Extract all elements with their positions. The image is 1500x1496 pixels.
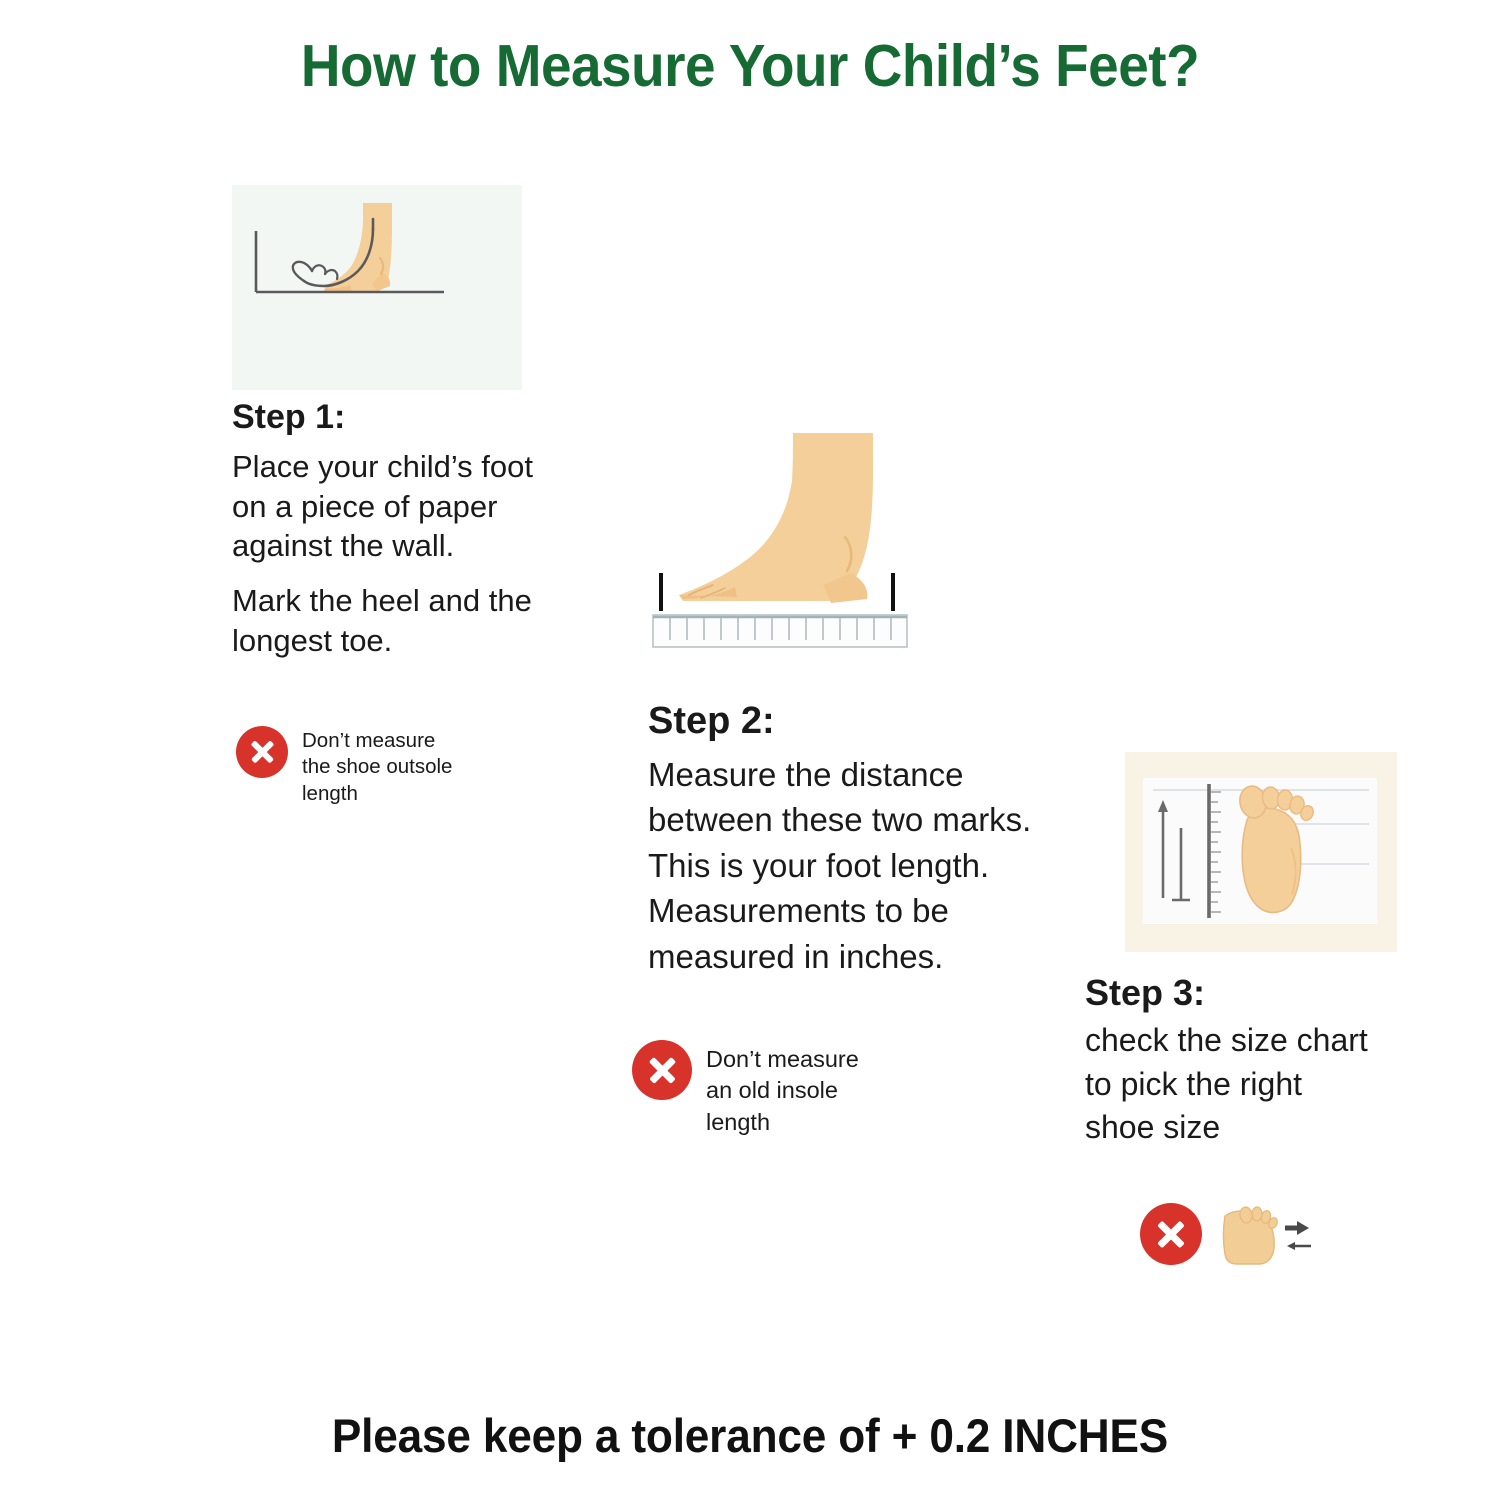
- foot-on-ruler-illustration: [645, 425, 935, 665]
- ruler: [653, 615, 907, 647]
- step1-body-line-1: Place your child’s foot: [232, 447, 550, 487]
- red-x-circle-icon: [1140, 1203, 1202, 1265]
- step2-body-line-1: Measure the distance: [648, 752, 1078, 798]
- step2-text-block: Step 2: Measure the distance between the…: [648, 700, 1078, 979]
- step1-warning-line-3: length: [302, 781, 452, 807]
- step1-heading: Step 1:: [232, 398, 550, 437]
- step3-warning: [1140, 1202, 1315, 1266]
- step3-text-block: Step 3: check the size chart to pick the…: [1085, 972, 1425, 1150]
- red-x-circle-icon: [236, 726, 288, 778]
- tolerance-note: Please keep a tolerance of + 0.2 INCHES: [45, 1408, 1455, 1463]
- step1-body-line-5: longest toe.: [232, 621, 550, 661]
- step1-body-line-2: on a piece of paper: [232, 487, 550, 527]
- foot-sole-on-measuring-chart-illustration: [1143, 778, 1377, 924]
- page-title: How to Measure Your Child’s Feet?: [53, 32, 1448, 100]
- foot-sole-shape: [1237, 784, 1315, 913]
- step2-warning-line-3: length: [706, 1107, 859, 1138]
- step3-body: check the size chart to pick the right s…: [1085, 1019, 1425, 1150]
- measuring-chart-card: [1143, 778, 1377, 924]
- step2-body-line-2: between these two marks.: [648, 797, 1078, 843]
- foot-sole-with-arrows-icon: [1215, 1202, 1315, 1266]
- step1-warning-text: Don’t measure the shoe outsole length: [302, 726, 452, 807]
- step2-warning-line-1: Don’t measure: [706, 1044, 859, 1075]
- reference-line: [1172, 828, 1190, 900]
- foot-against-wall-illustration: [232, 185, 522, 390]
- step2-body-line-3: This is your foot length.: [648, 843, 1078, 889]
- red-x-circle-icon: [632, 1040, 692, 1100]
- step1-illustration-panel: [232, 185, 522, 390]
- left-arrow-icon: [1287, 1242, 1311, 1250]
- step3-heading: Step 3:: [1085, 972, 1425, 1013]
- step1-warning-line-1: Don’t measure: [302, 728, 452, 754]
- ruler-ticks: [1211, 792, 1221, 912]
- arrow-head: [1158, 800, 1168, 812]
- step1-body: Place your child’s foot on a piece of pa…: [232, 447, 550, 660]
- step2-warning-text: Don’t measure an old insole length: [706, 1040, 859, 1138]
- right-arrow-icon: [1285, 1221, 1309, 1235]
- step2-heading: Step 2:: [648, 700, 1078, 744]
- step2-body-line-4: Measurements to be: [648, 888, 1078, 934]
- step1-body-line-4: Mark the heel and the: [232, 581, 550, 621]
- step1-text-block: Step 1: Place your child’s foot on a pie…: [232, 398, 550, 660]
- step3-body-line-3: shoe size: [1085, 1106, 1425, 1150]
- step2-body: Measure the distance between these two m…: [648, 752, 1078, 980]
- step1-warning-line-2: the shoe outsole: [302, 754, 452, 780]
- step2-warning: Don’t measure an old insole length: [632, 1040, 912, 1138]
- step3-body-line-2: to pick the right: [1085, 1063, 1425, 1107]
- step3-illustration-panel: [1125, 752, 1397, 952]
- step3-body-line-1: check the size chart: [1085, 1019, 1425, 1063]
- step1-body-line-3: against the wall.: [232, 526, 550, 566]
- step2-body-line-5: measured in inches.: [648, 934, 1078, 980]
- step1-warning: Don’t measure the shoe outsole length: [236, 726, 486, 807]
- step2-illustration-panel: [645, 425, 935, 665]
- step2-warning-line-2: an old insole: [706, 1075, 859, 1106]
